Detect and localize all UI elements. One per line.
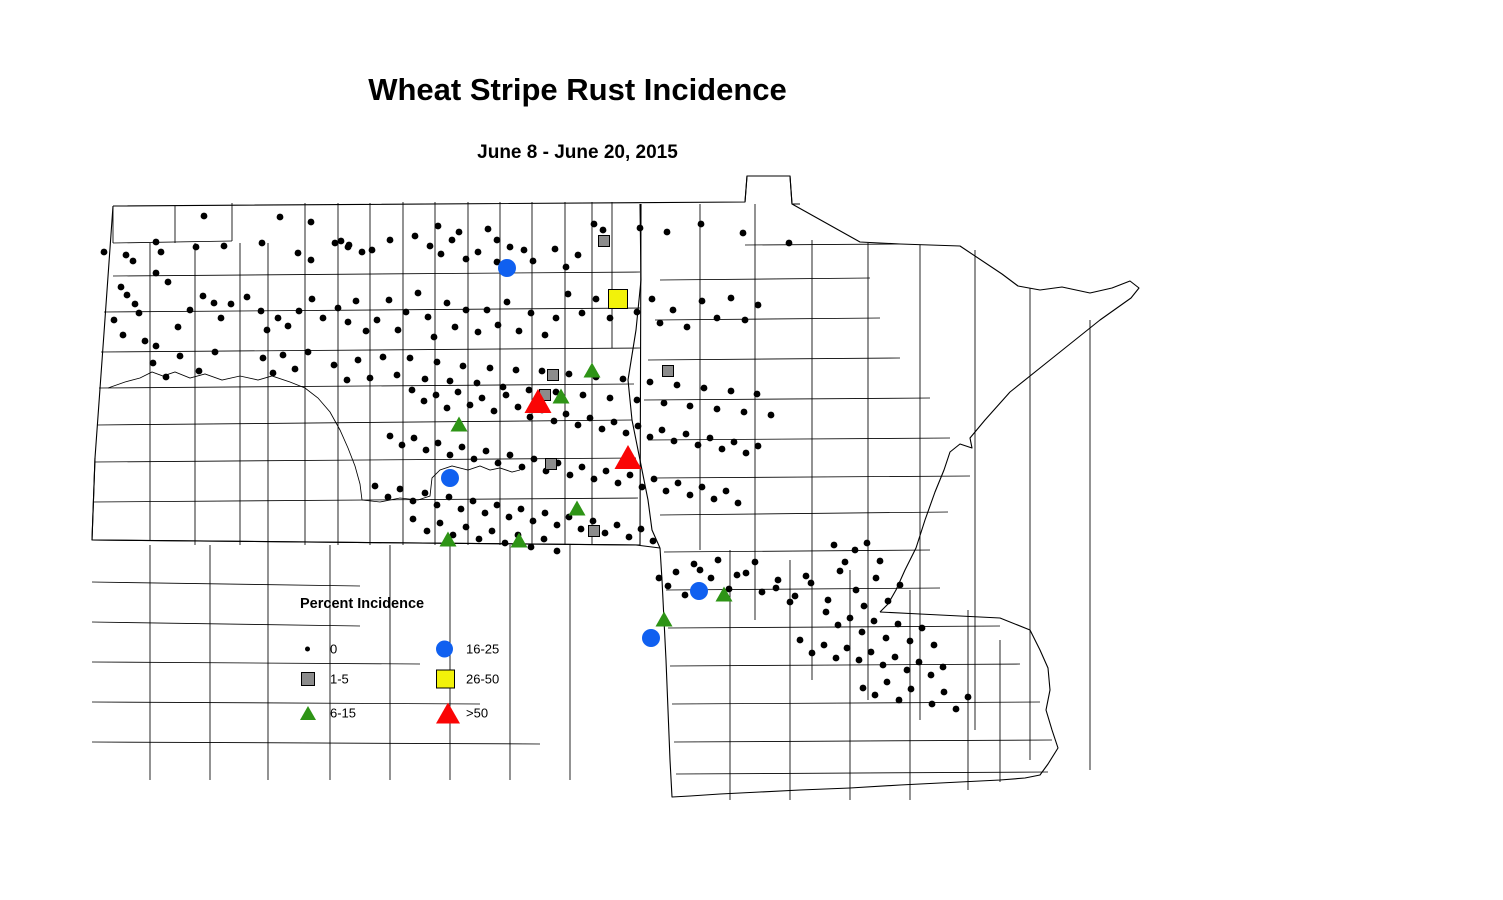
marker-zero: [743, 450, 750, 457]
marker-zero: [637, 225, 644, 232]
marker-zero: [731, 439, 738, 446]
marker-zero: [773, 585, 780, 592]
marker-zero: [687, 492, 694, 499]
marker-zero: [664, 229, 671, 236]
marker-zero: [699, 298, 706, 305]
marker-zero: [495, 322, 502, 329]
blue-circle-icon: [436, 641, 453, 658]
marker-zero: [701, 385, 708, 392]
marker-zero: [425, 314, 432, 321]
marker-zero: [456, 229, 463, 236]
marker-zero: [541, 536, 548, 543]
marker-zero: [123, 252, 130, 259]
marker-zero: [410, 498, 417, 505]
marker-zero: [142, 338, 149, 345]
marker-zero: [163, 374, 170, 381]
marker-zero: [397, 486, 404, 493]
marker-zero: [634, 309, 641, 316]
marker-zero: [353, 298, 360, 305]
marker-zero: [873, 575, 880, 582]
marker-zero: [111, 317, 118, 324]
marker-zero: [380, 354, 387, 361]
marker-zero: [455, 389, 462, 396]
marker-zero: [885, 598, 892, 605]
marker-zero: [531, 456, 538, 463]
marker-zero: [260, 355, 267, 362]
marker-zero: [331, 362, 338, 369]
marker-zero: [591, 476, 598, 483]
marker-zero: [835, 622, 842, 629]
marker-zero: [896, 697, 903, 704]
marker-zero: [897, 582, 904, 589]
marker-zero: [542, 510, 549, 517]
marker-zero: [607, 315, 614, 322]
marker-6-15: [511, 533, 528, 548]
marker-zero: [434, 359, 441, 366]
marker-zero: [136, 310, 143, 317]
marker-zero: [504, 299, 511, 306]
legend-item-1-5[interactable]: 1-5: [300, 668, 410, 690]
marker-zero: [422, 376, 429, 383]
county-boundaries: [92, 202, 1090, 800]
marker-zero: [603, 468, 610, 475]
marker-zero: [593, 296, 600, 303]
marker-zero: [521, 247, 528, 254]
marker-zero: [363, 328, 370, 335]
legend-label-26-50: 26-50: [466, 672, 499, 687]
marker-zero: [735, 500, 742, 507]
marker-zero: [699, 484, 706, 491]
marker-zero: [755, 443, 762, 450]
marker-zero: [196, 368, 203, 375]
marker-zero: [821, 642, 828, 649]
marker-zero: [623, 430, 630, 437]
marker-zero: [792, 593, 799, 600]
marker-zero: [965, 694, 972, 701]
marker-zero: [374, 317, 381, 324]
marker-zero: [611, 419, 618, 426]
marker-zero: [228, 301, 235, 308]
marker-zero: [296, 308, 303, 315]
marker-zero: [193, 244, 200, 251]
marker-zero: [683, 431, 690, 438]
marker-zero: [259, 240, 266, 247]
marker-zero: [201, 213, 208, 220]
marker-zero: [394, 372, 401, 379]
marker-zero: [665, 583, 672, 590]
marker-zero: [787, 599, 794, 606]
marker-zero: [682, 592, 689, 599]
marker-zero: [518, 506, 525, 513]
marker-zero: [580, 392, 587, 399]
marker-zero: [409, 387, 416, 394]
marker-zero: [519, 464, 526, 471]
marker-6-15: [656, 612, 673, 627]
marker-zero: [515, 404, 522, 411]
marker-zero: [647, 379, 654, 386]
marker-1-5: [599, 236, 610, 247]
marker-zero: [530, 258, 537, 265]
marker-zero: [707, 435, 714, 442]
marker-zero: [421, 398, 428, 405]
marker-zero: [565, 291, 572, 298]
marker-zero: [175, 324, 182, 331]
marker-zero: [280, 352, 287, 359]
marker-zero: [211, 300, 218, 307]
marker-zero: [474, 380, 481, 387]
marker-6-15: [584, 363, 601, 378]
marker-zero: [797, 637, 804, 644]
legend-item-0[interactable]: 0: [300, 638, 410, 660]
marker-zero: [530, 518, 537, 525]
screenshot-root: Wheat Stripe Rust Incidence June 8 - Jun…: [0, 0, 1503, 900]
marker-zero: [895, 621, 902, 628]
marker-zero: [883, 635, 890, 642]
marker-zero: [638, 526, 645, 533]
marker-zero: [941, 689, 948, 696]
marker-zero: [308, 219, 315, 226]
marker-zero: [503, 392, 510, 399]
marker-zero: [687, 403, 694, 410]
marker-zero: [563, 264, 570, 271]
marker-zero: [880, 662, 887, 669]
marker-zero: [344, 377, 351, 384]
marker-zero: [447, 452, 454, 459]
marker-zero: [218, 315, 225, 322]
marker-zero: [491, 408, 498, 415]
marker-zero: [101, 249, 108, 256]
marker-zero: [551, 418, 558, 425]
marker-zero: [929, 701, 936, 708]
marker-zero: [940, 664, 947, 671]
marker-zero: [395, 327, 402, 334]
marker-zero: [407, 355, 414, 362]
marker-zero: [458, 506, 465, 513]
marker-zero: [908, 686, 915, 693]
incidence-map[interactable]: [0, 0, 1503, 900]
marker-zero: [579, 464, 586, 471]
marker-zero: [507, 452, 514, 459]
marker-zero: [649, 296, 656, 303]
marker-zero: [916, 659, 923, 666]
marker-zero: [803, 573, 810, 580]
marker-zero: [675, 480, 682, 487]
marker-zero: [502, 540, 509, 547]
marker-zero: [264, 327, 271, 334]
marker-zero: [427, 243, 434, 250]
marker-zero: [494, 237, 501, 244]
marker-zero: [847, 615, 854, 622]
legend-title: Percent Incidence: [300, 596, 424, 612]
marker-zero: [928, 672, 935, 679]
marker-zero: [755, 302, 762, 309]
marker-zero: [575, 422, 582, 429]
marker-zero: [446, 494, 453, 501]
marker-zero: [864, 540, 871, 547]
marker-zero: [244, 294, 251, 301]
marker-zero: [741, 409, 748, 416]
marker-zero: [258, 308, 265, 315]
marker-zero: [410, 516, 417, 523]
marker-zero: [647, 434, 654, 441]
marker-zero: [634, 397, 641, 404]
marker-zero: [444, 405, 451, 412]
marker-zero: [292, 366, 299, 373]
marker-zero: [823, 609, 830, 616]
marker-zero: [742, 317, 749, 324]
marker-zero: [670, 307, 677, 314]
marker-zero: [471, 456, 478, 463]
marker-zero: [124, 292, 131, 299]
marker-zero: [599, 426, 606, 433]
marker-zero: [177, 353, 184, 360]
marker-zero: [270, 370, 277, 377]
marker-zero: [386, 297, 393, 304]
marker-zero: [463, 524, 470, 531]
legend-label-0: 0: [330, 642, 337, 657]
marker-zero: [452, 324, 459, 331]
legend-label-6-15: 6-15: [330, 706, 356, 721]
marker-zero: [614, 522, 621, 529]
marker-zero: [809, 650, 816, 657]
red-triangle-icon: [436, 703, 460, 724]
marker-zero: [483, 448, 490, 455]
marker-zero: [575, 252, 582, 259]
marker-zero: [837, 568, 844, 575]
marker-zero: [345, 319, 352, 326]
marker-zero: [626, 534, 633, 541]
marker-zero: [387, 237, 394, 244]
marker-zero: [698, 221, 705, 228]
marker-zero: [415, 290, 422, 297]
marker-zero: [489, 528, 496, 535]
marker-zero: [411, 435, 418, 442]
marker-zero: [433, 392, 440, 399]
legend-label-16-25: 16-25: [466, 642, 499, 657]
marker-zero: [305, 349, 312, 356]
marker-zero: [526, 387, 533, 394]
marker-zero: [359, 249, 366, 256]
marker-zero: [495, 460, 502, 467]
marker-zero: [485, 226, 492, 233]
marker-zero: [387, 433, 394, 440]
marker-zero: [153, 343, 160, 350]
marker-zero: [355, 357, 362, 364]
marker-zero: [158, 249, 165, 256]
marker-zero: [892, 654, 899, 661]
legend-item-16-25[interactable]: 16-25: [436, 638, 546, 660]
marker-zero: [367, 375, 374, 382]
marker-zero: [684, 324, 691, 331]
marker-zero: [554, 548, 561, 555]
marker-16-25: [642, 629, 660, 647]
marker-zero: [656, 575, 663, 582]
marker-zero: [221, 243, 228, 250]
marker-zero: [542, 332, 549, 339]
marker-zero: [438, 251, 445, 258]
marker-zero: [639, 484, 646, 491]
marker-zero: [715, 557, 722, 564]
marker-zero: [277, 214, 284, 221]
marker-zero: [385, 494, 392, 501]
marker-zero: [528, 310, 535, 317]
marker-zero: [335, 305, 342, 312]
marker-zero: [528, 544, 535, 551]
marker-zero: [513, 367, 520, 374]
marker-zero: [852, 547, 859, 554]
marker-zero: [590, 518, 597, 525]
marker-zero: [285, 323, 292, 330]
marker-zero: [868, 649, 875, 656]
state-outlines: [92, 176, 1139, 797]
marker-zero: [150, 360, 157, 367]
marker-zero: [602, 530, 609, 537]
marker-zero: [627, 472, 634, 479]
legend-item-6-15[interactable]: 6-15: [300, 702, 410, 724]
marker-zero: [132, 301, 139, 308]
marker-zero: [695, 442, 702, 449]
marker-zero: [309, 296, 316, 303]
green-triangle-icon: [300, 706, 316, 720]
marker-zero: [786, 240, 793, 247]
marker-zero: [953, 706, 960, 713]
marker-zero: [295, 250, 302, 257]
marker-zero: [120, 332, 127, 339]
marker-zero: [711, 496, 718, 503]
marker-zero: [567, 472, 574, 479]
gray-square-icon: [301, 672, 315, 686]
marker-zero: [424, 528, 431, 535]
marker-zero: [877, 558, 884, 565]
marker-zero: [657, 320, 664, 327]
marker-zero: [872, 692, 879, 699]
marker-zero: [212, 349, 219, 356]
marker-zero: [369, 247, 376, 254]
marker-zero: [904, 667, 911, 674]
marker-zero: [460, 363, 467, 370]
marker-zero: [833, 655, 840, 662]
marker-zero: [475, 329, 482, 336]
marker-zero: [659, 427, 666, 434]
small-black-dot-icon: [305, 647, 310, 652]
marker-zero: [308, 257, 315, 264]
marker-1-5: [663, 366, 674, 377]
marker-zero: [475, 249, 482, 256]
marker-zero: [463, 307, 470, 314]
marker-zero: [563, 411, 570, 418]
marker-zero: [728, 295, 735, 302]
legend: Percent Incidence 0 1-5 6-15 16-25 26-50…: [296, 596, 526, 731]
marker-1-5: [546, 459, 557, 470]
marker-zero: [607, 395, 614, 402]
marker-zero: [860, 685, 867, 692]
marker-zero: [200, 293, 207, 300]
marker-zero: [459, 444, 466, 451]
marker-zero: [842, 559, 849, 566]
marker-zero: [734, 572, 741, 579]
marker-zero: [661, 400, 668, 407]
marker-zero: [320, 315, 327, 322]
marker-zero: [372, 483, 379, 490]
marker-zero: [487, 365, 494, 372]
marker-zero: [919, 625, 926, 632]
marker-26-50: [609, 290, 628, 309]
marker-zero: [808, 580, 815, 587]
marker-zero: [740, 230, 747, 237]
marker-zero: [338, 238, 345, 245]
marker-zero: [754, 391, 761, 398]
marker-zero: [332, 240, 339, 247]
marker-zero: [165, 279, 172, 286]
marker-zero: [434, 502, 441, 509]
marker-zero: [566, 371, 573, 378]
marker-zero: [844, 645, 851, 652]
marker-zero: [861, 603, 868, 610]
legend-label-gt50: >50: [466, 706, 488, 721]
marker-zero: [728, 388, 735, 395]
marker-zero: [650, 538, 657, 545]
marker-zero: [931, 642, 938, 649]
marker-zero: [775, 577, 782, 584]
marker-zero: [591, 221, 598, 228]
marker-1-5: [589, 526, 600, 537]
marker-16-25: [690, 582, 708, 600]
marker-zero: [884, 679, 891, 686]
marker-zero: [153, 270, 160, 277]
yellow-square-icon: [436, 670, 455, 689]
marker-zero: [831, 542, 838, 549]
marker-zero: [275, 315, 282, 322]
marker-zero: [435, 440, 442, 447]
marker-zero: [447, 378, 454, 385]
marker-zero: [671, 438, 678, 445]
marker-zero: [153, 239, 160, 246]
marker-zero: [714, 315, 721, 322]
marker-zero: [444, 300, 451, 307]
marker-6-15: [451, 417, 468, 432]
marker-zero: [553, 315, 560, 322]
marker-zero: [399, 442, 406, 449]
marker-zero: [635, 423, 642, 430]
legend-label-1-5: 1-5: [330, 672, 349, 687]
marker-zero: [743, 570, 750, 577]
legend-item-gt50[interactable]: >50: [436, 702, 546, 724]
marker-zero: [463, 256, 470, 263]
marker-zero: [449, 237, 456, 244]
marker-zero: [130, 258, 137, 265]
marker-zero: [674, 382, 681, 389]
marker-zero: [554, 522, 561, 529]
marker-zero: [118, 284, 125, 291]
marker-16-25: [498, 259, 516, 277]
marker-zero: [552, 246, 559, 253]
marker-zero: [871, 618, 878, 625]
marker-zero: [853, 587, 860, 594]
marker-zero: [437, 520, 444, 527]
marker-zero: [907, 638, 914, 645]
legend-item-26-50[interactable]: 26-50: [436, 668, 546, 690]
marker-zero: [484, 307, 491, 314]
marker-zero: [587, 415, 594, 422]
marker-zero: [539, 368, 546, 375]
marker-zero: [527, 414, 534, 421]
marker-zero: [482, 510, 489, 517]
marker-zero: [423, 447, 430, 454]
marker-zero: [620, 376, 627, 383]
marker-zero: [412, 233, 419, 240]
marker-zero: [697, 567, 704, 574]
marker-zero: [435, 223, 442, 230]
